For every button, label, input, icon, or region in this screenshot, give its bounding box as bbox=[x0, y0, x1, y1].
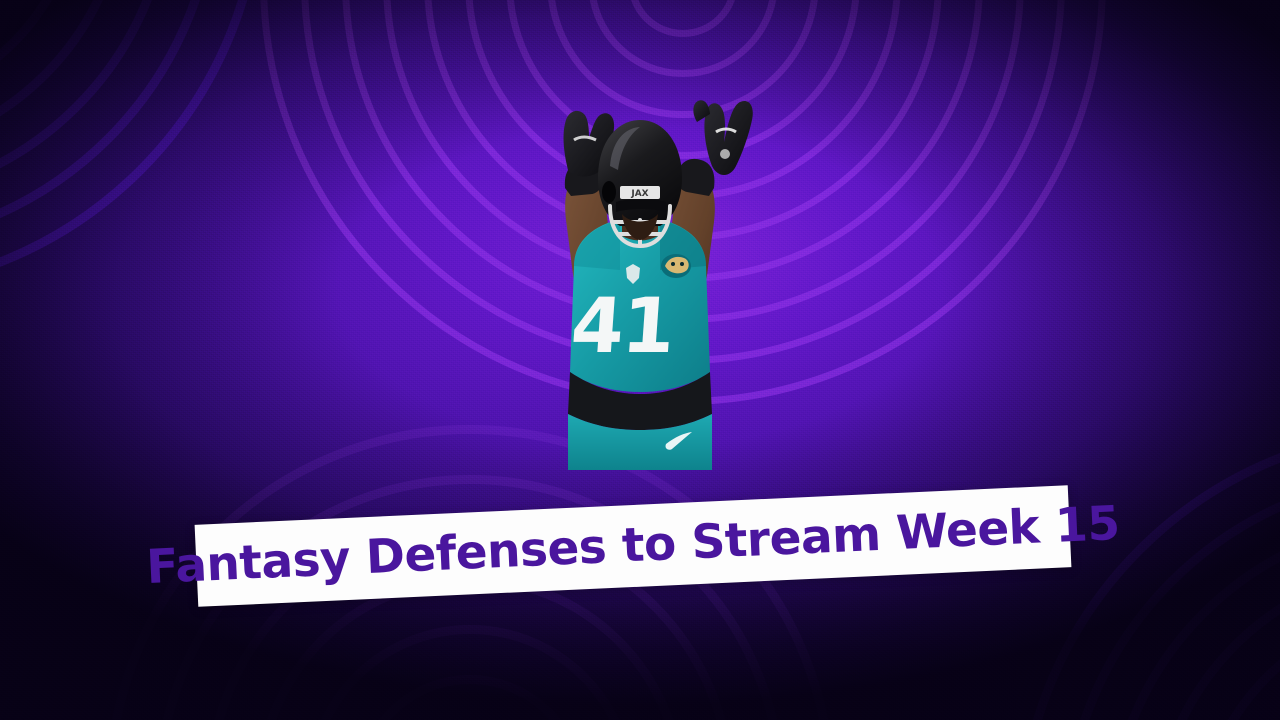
jersey-number: 41 bbox=[568, 281, 676, 370]
football-player-image: 41 JAX bbox=[470, 70, 810, 470]
jaguars-logo-patch bbox=[661, 254, 691, 278]
svg-text:41: 41 bbox=[568, 281, 676, 370]
svg-text:JAX: JAX bbox=[630, 189, 648, 199]
thumbnail-graphic: 41 JAX bbox=[0, 0, 1280, 720]
